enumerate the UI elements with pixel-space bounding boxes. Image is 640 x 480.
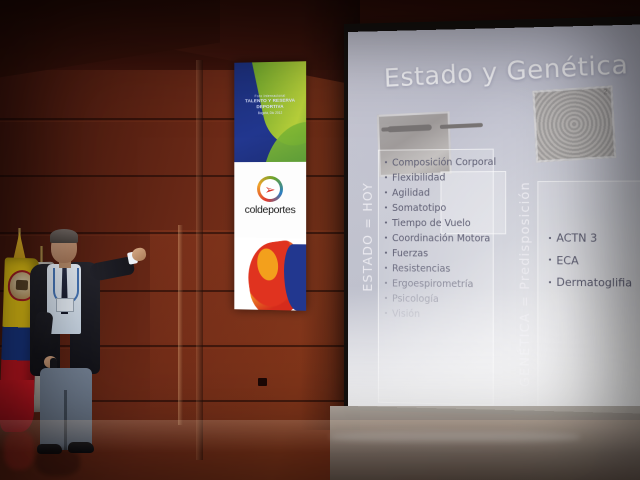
wall-outlet (258, 378, 267, 386)
auditorium-photo: Foro Internacional TALENTO Y RESERVA DEP… (0, 0, 640, 480)
list-item: Resistencias (384, 262, 498, 278)
banner-line-2: TALENTO Y RESERVA DEPORTIVA (238, 98, 302, 110)
banner-bottom-panel (234, 238, 306, 311)
banner-brand-text: coldeportes (234, 204, 306, 216)
list-item: ACTN 3 (548, 228, 640, 251)
slide-left-vertical-label: ESTADO = HOY (360, 182, 375, 292)
list-item: ECA (548, 250, 640, 273)
projection-screen: Estado y Genética 2 ESTADO = HOY GENÉTIC… (348, 24, 640, 414)
screen-glare (348, 286, 640, 414)
list-item: Somatotipo (384, 201, 498, 216)
fingerprint-photo-caption: 2 (603, 89, 608, 97)
list-item: Agilidad (384, 185, 498, 201)
slide-right-bullets: ACTN 3 ECA Dermatoglifia (548, 228, 640, 295)
speaker-reflection (36, 448, 80, 476)
conference-badge (56, 298, 74, 312)
list-item: Composición Corporal (384, 155, 498, 171)
runner-icon: ➢ (265, 182, 276, 195)
hair (50, 229, 78, 243)
door-jamb (178, 225, 183, 425)
banner-caption: Foro Internacional TALENTO Y RESERVA DEP… (238, 93, 302, 115)
list-item: Fuerzas (384, 246, 498, 262)
banner-line-3: Bogotá, Dic 2012 (238, 110, 302, 115)
list-item: Coordinación Motora (384, 231, 498, 247)
wall-pillar (196, 60, 203, 460)
coldeportes-logo-icon: ➢ (257, 176, 283, 202)
fingerprint-photo: 2 (532, 85, 616, 162)
floor-light-streak (330, 432, 580, 442)
flag-reflection (4, 430, 34, 470)
list-item: Tiempo de Vuelo (384, 216, 498, 231)
floor-gloss (0, 420, 640, 480)
list-item: Flexibilidad (384, 170, 498, 186)
coldeportes-banner: Foro Internacional TALENTO Y RESERVA DEP… (234, 61, 306, 311)
